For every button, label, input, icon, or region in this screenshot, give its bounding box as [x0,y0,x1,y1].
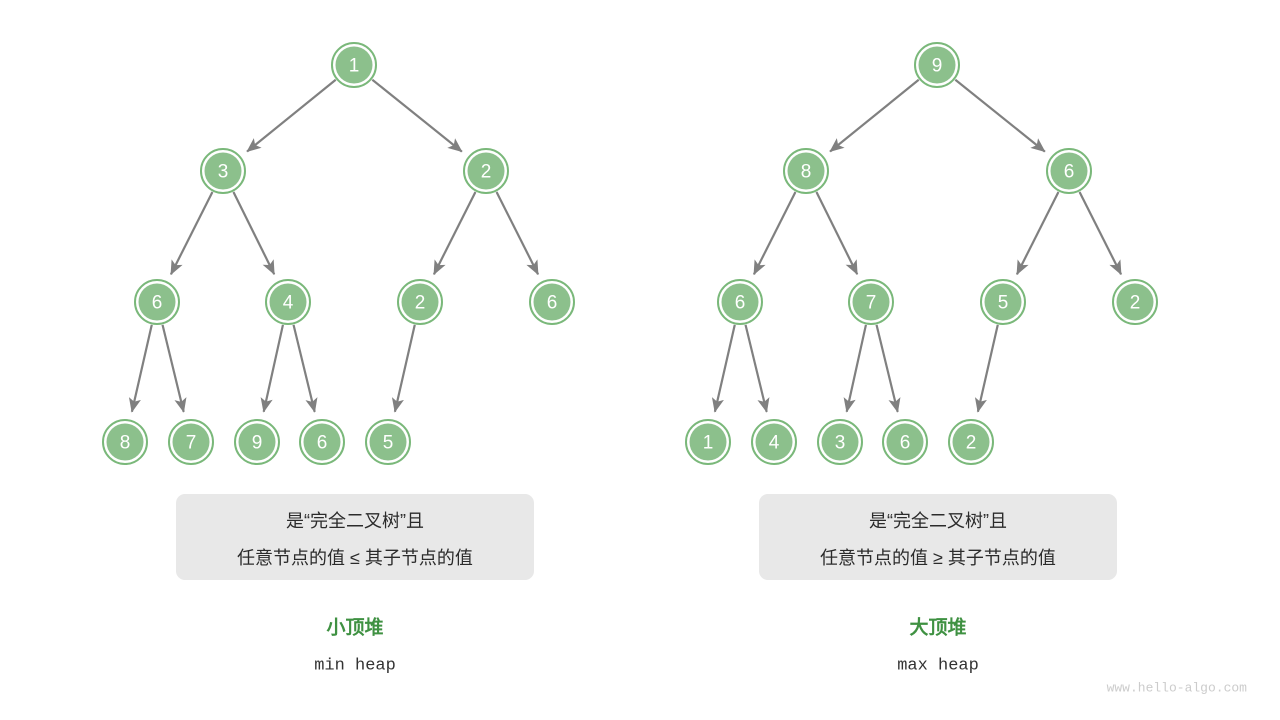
tree-node: 1 [332,43,376,87]
tree-edge [434,192,475,274]
node-value: 6 [547,293,558,314]
node-value: 5 [998,293,1009,314]
node-value: 6 [1064,162,1075,183]
tree-edge [264,325,283,412]
tree-node: 7 [169,420,213,464]
node-value: 3 [218,162,229,183]
node-value: 4 [283,293,294,314]
node-value: 8 [120,433,131,454]
node-value: 2 [415,293,426,314]
tree-edge [372,80,462,152]
tree-node: 6 [718,280,762,324]
tree-node: 7 [849,280,893,324]
tree-nodes-layer: 132642687965986675214362 [103,43,1157,464]
tree-edge [955,80,1045,152]
panel-title-cn: 小顶堆 [326,616,383,639]
node-value: 3 [835,433,846,454]
tree-node: 5 [981,280,1025,324]
node-value: 9 [932,56,943,77]
node-value: 6 [317,433,328,454]
node-value: 9 [252,433,263,454]
tree-edge [1080,192,1121,274]
tree-node: 6 [135,280,179,324]
tree-edge [1017,192,1058,274]
tree-node: 2 [398,280,442,324]
tree-node: 8 [784,149,828,193]
caption-line: 是“完全二叉树”且 [869,511,1007,531]
tree-node: 1 [686,420,730,464]
tree-edge [830,80,919,152]
node-value: 6 [152,293,163,314]
caption-line: 是“完全二叉树”且 [286,511,424,531]
watermark: www.hello-algo.com [1107,681,1248,696]
tree-node: 9 [915,43,959,87]
tree-node: 2 [949,420,993,464]
tree-node: 6 [530,280,574,324]
captions-layer: 是“完全二叉树”且任意节点的值 ≤ 其子节点的值小顶堆min heap是“完全二… [176,494,1117,676]
tree-node: 6 [883,420,927,464]
caption-line: 任意节点的值 ≥ 其子节点的值 [820,548,1056,568]
tree-node: 2 [464,149,508,193]
node-value: 7 [866,293,877,314]
node-value: 7 [186,433,197,454]
tree-node: 4 [752,420,796,464]
tree-edge [497,192,538,274]
tree-edge [233,192,274,274]
node-value: 2 [1130,293,1141,314]
panel-title-en: min heap [314,657,396,676]
panel-title-cn: 大顶堆 [909,616,966,639]
caption-line: 任意节点的值 ≤ 其子节点的值 [237,548,473,568]
node-value: 6 [900,433,911,454]
tree-edge [171,192,212,274]
node-value: 8 [801,162,812,183]
node-value: 6 [735,293,746,314]
tree-edge [132,325,152,412]
tree-node: 3 [201,149,245,193]
tree-edge [877,325,898,412]
tree-edge [395,325,415,412]
panel-title-en: max heap [897,657,979,676]
node-value: 2 [481,162,492,183]
node-value: 5 [383,433,394,454]
tree-node: 5 [366,420,410,464]
heap-diagram-canvas: 132642687965986675214362 是“完全二叉树”且任意节点的值… [0,0,1280,720]
node-value: 1 [349,56,360,77]
tree-node: 9 [235,420,279,464]
tree-node: 6 [300,420,344,464]
tree-edge [754,192,795,274]
tree-edge [816,192,857,274]
tree-node: 2 [1113,280,1157,324]
tree-edge [978,325,998,412]
tree-edges-layer [132,80,1121,412]
node-value: 1 [703,433,714,454]
tree-node: 8 [103,420,147,464]
tree-node: 4 [266,280,310,324]
tree-edge [163,325,184,412]
tree-edge [247,80,336,152]
tree-node: 3 [818,420,862,464]
tree-edge [715,325,735,412]
tree-node: 6 [1047,149,1091,193]
tree-edge [746,325,767,412]
node-value: 2 [966,433,977,454]
tree-edge [847,325,866,412]
node-value: 4 [769,433,780,454]
tree-edge [294,325,315,412]
